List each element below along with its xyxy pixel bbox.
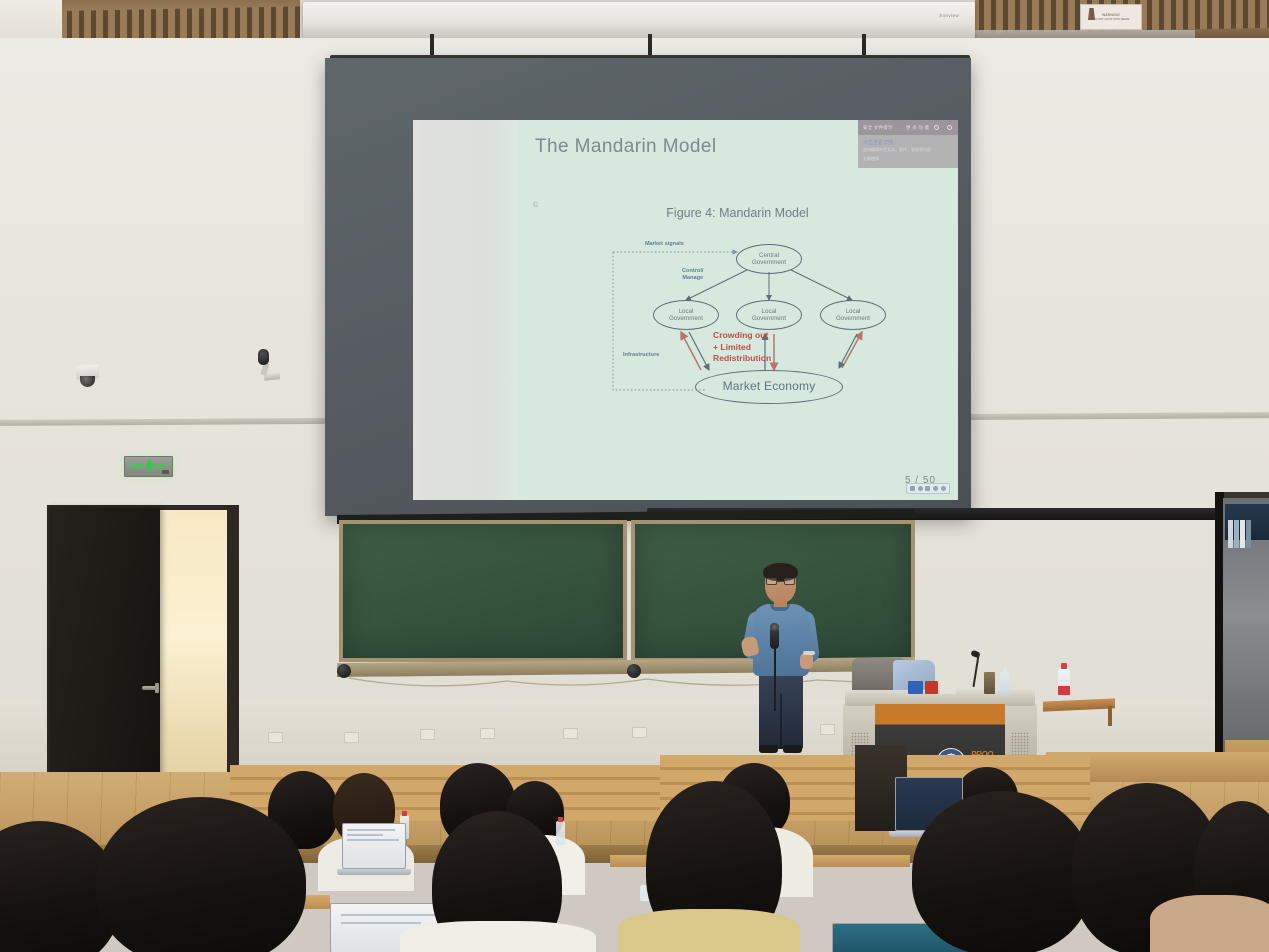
laptop-base bbox=[337, 869, 411, 875]
pen-icon[interactable] bbox=[925, 486, 930, 491]
notification-link[interactable]: 点击查看详情 bbox=[863, 139, 893, 146]
book-1 bbox=[1228, 520, 1233, 548]
node-local-government-1: LocalGovernment bbox=[653, 300, 719, 330]
figure-caption: Figure 4: Mandarin Model bbox=[517, 206, 958, 220]
laptop-screen[interactable] bbox=[342, 823, 406, 869]
security-camera-right-head bbox=[258, 349, 269, 365]
exit-sign-left-text: SAFE bbox=[130, 464, 144, 470]
running-man-icon bbox=[145, 460, 154, 473]
presenter-right-hand bbox=[800, 653, 813, 669]
audience-shoulder-front-7 bbox=[1150, 895, 1269, 952]
exit-sign-battery-indicator bbox=[162, 470, 169, 474]
ceiling-left-panel bbox=[0, 0, 62, 40]
node-local-government-3: LocalGovernment bbox=[820, 300, 886, 330]
microphone-cord bbox=[774, 649, 776, 711]
notification-title: 安全 文件提示 bbox=[863, 125, 893, 131]
node-local-government-2: LocalGovernment bbox=[736, 300, 802, 330]
notification-popup[interactable]: 安全 文件提示 更 多 功 能 点击查看详情 支持编辑中文文本，图片，表格等内容… bbox=[858, 120, 958, 168]
book-2 bbox=[1234, 520, 1239, 548]
node-central-line2: Government bbox=[752, 259, 786, 266]
exit-sign-right-text: EXIT bbox=[155, 464, 167, 470]
slide-title: The Mandarin Model bbox=[535, 136, 716, 158]
eraser-icon[interactable] bbox=[933, 486, 938, 491]
audience-head-front-5 bbox=[912, 791, 1092, 952]
close-icon[interactable] bbox=[947, 125, 952, 130]
presenter bbox=[737, 565, 823, 755]
projector-screen-housing: WARNING DO NOT LOOK INTO BEAM Sonview bbox=[303, 2, 975, 38]
fit-page-icon[interactable] bbox=[910, 486, 915, 491]
side-table-leg bbox=[1108, 706, 1112, 726]
wall-outlet-1 bbox=[268, 732, 283, 743]
book-4 bbox=[1246, 520, 1251, 548]
notification-action-button[interactable]: 立即使用 bbox=[863, 156, 879, 162]
presentation-slide[interactable]: The Mandarin Model © Figure 4: Mandarin … bbox=[517, 120, 958, 500]
edge-label-market-signals: Market signals bbox=[645, 241, 684, 248]
node-central-government: CentralGovernment bbox=[736, 244, 802, 274]
chalkboard-panel-left[interactable] bbox=[339, 520, 627, 662]
projector-brand: Sonview bbox=[939, 13, 959, 18]
projection-screen: The Mandarin Model © Figure 4: Mandarin … bbox=[325, 58, 971, 516]
chalkboard-assembly bbox=[337, 512, 915, 687]
node-market-economy: Market Economy bbox=[695, 370, 843, 404]
water-bottle-side-table bbox=[1058, 668, 1070, 700]
book-3 bbox=[1240, 520, 1245, 548]
bookshelf bbox=[1225, 504, 1269, 540]
door-left-handle[interactable] bbox=[142, 686, 158, 690]
wall-outlet-6 bbox=[632, 727, 647, 738]
edge-label-infrastructure: Infrastructure bbox=[623, 352, 659, 359]
lecture-hall-scene: WARNING DO NOT LOOK INTO BEAM Sonview SA… bbox=[0, 0, 1269, 952]
wristwatch bbox=[803, 651, 815, 655]
leg-seam bbox=[780, 693, 782, 749]
glasses-icon bbox=[766, 578, 795, 585]
pdf-floating-toolbar[interactable] bbox=[906, 483, 950, 494]
thermos-item bbox=[984, 672, 995, 694]
warning-label: WARNING DO NOT LOOK INTO BEAM bbox=[1080, 4, 1142, 30]
wall-outlet-5 bbox=[563, 728, 578, 739]
settings-icon[interactable] bbox=[934, 125, 939, 130]
projected-image: The Mandarin Model © Figure 4: Mandarin … bbox=[413, 120, 958, 500]
blue-box-item bbox=[908, 681, 923, 694]
red-box-item bbox=[925, 681, 938, 694]
edge-label-crowding-out: Crowding out+ LimitedRedistribution bbox=[713, 330, 771, 365]
audience-shoulder-front-3 bbox=[400, 921, 596, 952]
presenter-jeans bbox=[759, 671, 803, 749]
notification-menu[interactable]: 更 多 功 能 bbox=[906, 125, 929, 131]
water-bottle-audience-3 bbox=[556, 821, 565, 845]
emergency-exit-sign: SAFE EXIT bbox=[124, 456, 173, 477]
node-central-line1: Central bbox=[759, 252, 779, 259]
wall-outlet-4 bbox=[480, 728, 495, 739]
projection-unlit-margin bbox=[413, 120, 517, 500]
audience-shoulder-front-4 bbox=[618, 909, 800, 952]
mandarin-model-diagram: CentralGovernment LocalGovernment LocalG… bbox=[609, 240, 909, 420]
edge-label-control-manage: Control/Manage bbox=[682, 268, 703, 283]
settings-icon[interactable] bbox=[941, 486, 946, 491]
audience-seating bbox=[0, 745, 1269, 952]
highlight-icon[interactable] bbox=[918, 486, 923, 491]
water-bottle-podium bbox=[1000, 672, 1009, 696]
warning-icon bbox=[1088, 8, 1095, 20]
notification-subtext: 支持编辑中文文本，图片，表格等内容 bbox=[863, 147, 931, 153]
wall-outlet-3 bbox=[420, 729, 435, 740]
tissue-box-item bbox=[940, 678, 956, 694]
hanging-cable bbox=[347, 676, 907, 694]
handheld-microphone-icon bbox=[770, 627, 779, 649]
wall-outlet-2 bbox=[344, 732, 359, 743]
